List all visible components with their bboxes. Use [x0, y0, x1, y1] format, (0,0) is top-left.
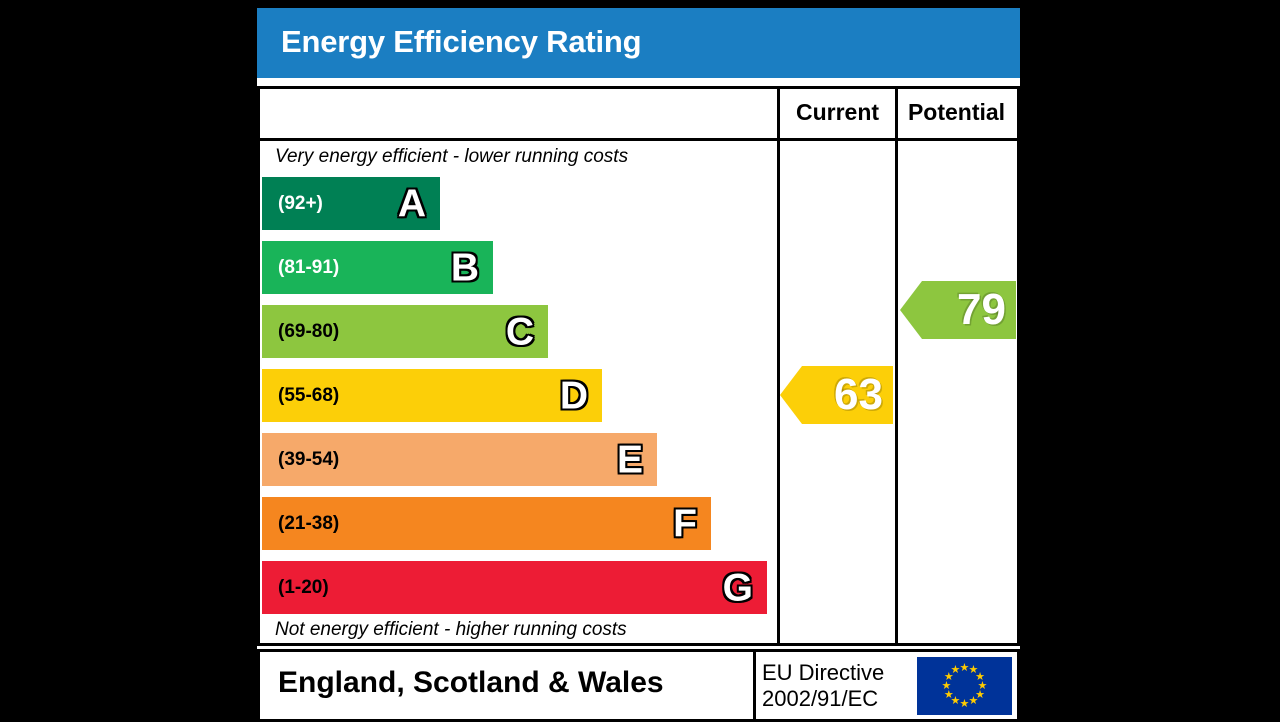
directive-line-2: 2002/91/EC — [762, 686, 912, 712]
column-header-current: Current — [780, 99, 895, 126]
certificate-footer: England, Scotland & Wales EU Directive 2… — [257, 649, 1020, 722]
potential-rating-arrow: 79 — [900, 281, 1016, 339]
caption-not-efficient: Not energy efficient - higher running co… — [275, 619, 627, 641]
footer-divider — [753, 652, 756, 719]
current-rating-arrow: 63 — [780, 366, 893, 424]
band-range-a: (92+) — [278, 193, 323, 215]
column-header-potential: Potential — [898, 99, 1015, 126]
header-row-divider — [260, 138, 1017, 141]
eu-star-icon: ★ — [942, 682, 951, 691]
band-bar-a: (92+)A — [262, 177, 440, 230]
eu-star-icon: ★ — [944, 691, 953, 700]
band-bar-f: (21-38)F — [262, 497, 711, 550]
band-letter-a: A — [398, 184, 426, 223]
title-bar: Energy Efficiency Rating — [257, 8, 1020, 78]
energy-efficiency-certificate: Energy Efficiency Rating Current Potenti… — [257, 8, 1020, 714]
band-letter-g: G — [723, 568, 753, 607]
page-title: Energy Efficiency Rating — [281, 24, 641, 60]
band-range-f: (21-38) — [278, 513, 339, 535]
band-letter-e: E — [617, 440, 643, 479]
eu-star-icon: ★ — [951, 666, 960, 675]
column-divider-potential — [895, 89, 898, 643]
eu-flag-icon: ★★★★★★★★★★★★ — [917, 657, 1012, 715]
band-bar-d: (55-68)D — [262, 369, 602, 422]
caption-very-efficient: Very energy efficient - lower running co… — [275, 146, 628, 168]
band-bar-c: (69-80)C — [262, 305, 548, 358]
potential-rating-value: 79 — [957, 288, 1006, 332]
eu-star-icon: ★ — [960, 664, 969, 673]
band-range-c: (69-80) — [278, 321, 339, 343]
column-divider-current — [777, 89, 780, 643]
band-bar-g: (1-20)G — [262, 561, 767, 614]
footer-directive: EU Directive 2002/91/EC — [762, 660, 912, 712]
directive-line-1: EU Directive — [762, 660, 912, 686]
band-range-g: (1-20) — [278, 577, 329, 599]
band-letter-c: C — [506, 312, 534, 351]
band-letter-b: B — [451, 248, 479, 287]
band-range-d: (55-68) — [278, 385, 339, 407]
footer-region-label: England, Scotland & Wales — [278, 666, 664, 700]
screenshot-stage: Energy Efficiency Rating Current Potenti… — [0, 0, 1280, 720]
band-letter-f: F — [673, 504, 697, 543]
band-range-b: (81-91) — [278, 257, 339, 279]
band-bars: (92+)A(81-91)B(69-80)C(55-68)D(39-54)E(2… — [260, 177, 777, 607]
rating-grid: Current Potential Very energy efficient … — [257, 86, 1020, 646]
band-letter-d: D — [560, 376, 588, 415]
band-range-e: (39-54) — [278, 449, 339, 471]
current-rating-value: 63 — [834, 373, 883, 417]
band-bar-e: (39-54)E — [262, 433, 657, 486]
eu-star-icon: ★ — [960, 700, 969, 709]
band-bar-b: (81-91)B — [262, 241, 493, 294]
eu-star-icon: ★ — [969, 697, 978, 706]
